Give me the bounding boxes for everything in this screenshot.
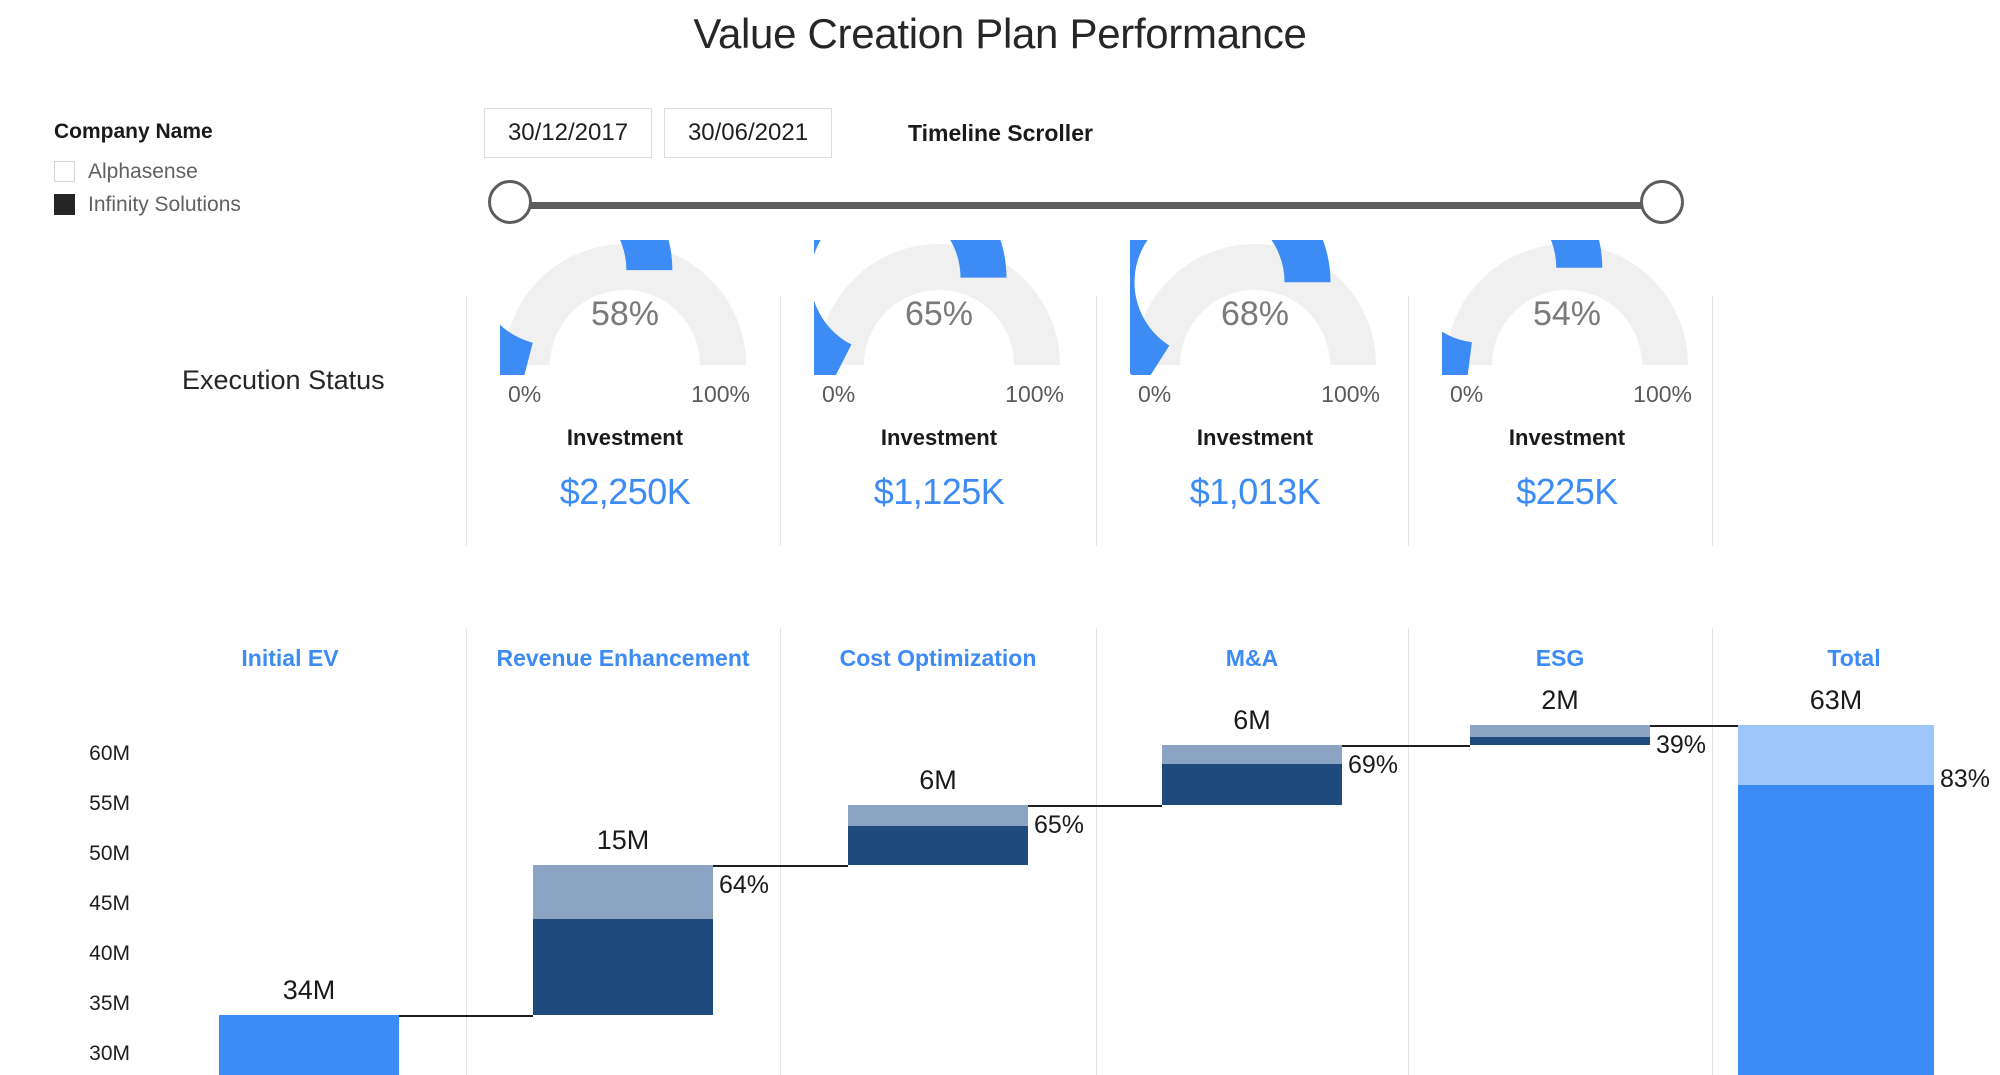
waterfall-value-label: 34M: [283, 975, 336, 1006]
bar-segment-remaining: [1738, 725, 1934, 785]
bar-segment-remaining: [1470, 725, 1650, 737]
waterfall-bar-m-a: [1162, 745, 1342, 805]
bar-segment-remaining: [1162, 745, 1342, 764]
waterfall-value-label: 6M: [919, 765, 957, 796]
bar-segment-achieved: [533, 919, 713, 1015]
waterfall-plot: 34M15M64%6M65%6M69%2M39%63M83%: [0, 0, 2000, 1075]
waterfall-achievement-label: 39%: [1656, 731, 1706, 760]
bar-segment-achieved: [848, 826, 1028, 865]
bar-segment-remaining: [848, 805, 1028, 826]
waterfall-bar-cost-optimization: [848, 805, 1028, 865]
bar-segment-remaining: [533, 865, 713, 919]
waterfall-connector: [1342, 745, 1470, 747]
waterfall-bar-revenue-enhancement: [533, 865, 713, 1015]
bar-segment-achieved: [1162, 764, 1342, 805]
waterfall-connector: [1028, 805, 1162, 807]
waterfall-connector: [1650, 725, 1738, 727]
waterfall-achievement-label: 83%: [1940, 765, 1990, 794]
waterfall-connector: [713, 865, 848, 867]
waterfall-value-label: 6M: [1233, 705, 1271, 736]
waterfall-achievement-label: 64%: [719, 871, 769, 900]
waterfall-connector: [399, 1015, 533, 1017]
waterfall-achievement-label: 65%: [1034, 811, 1084, 840]
bar-segment-achieved: [1738, 785, 1934, 1075]
waterfall-achievement-label: 69%: [1348, 751, 1398, 780]
waterfall-value-label: 15M: [597, 825, 650, 856]
bar-segment-achieved: [1470, 737, 1650, 745]
waterfall-bar-esg: [1470, 725, 1650, 745]
waterfall-value-label: 2M: [1541, 685, 1579, 716]
waterfall-bar-initial-ev: [219, 1015, 399, 1075]
waterfall-bar-total: [1738, 725, 1934, 1075]
bar-segment-initial: [219, 1015, 399, 1075]
waterfall-value-label: 63M: [1810, 685, 1863, 716]
